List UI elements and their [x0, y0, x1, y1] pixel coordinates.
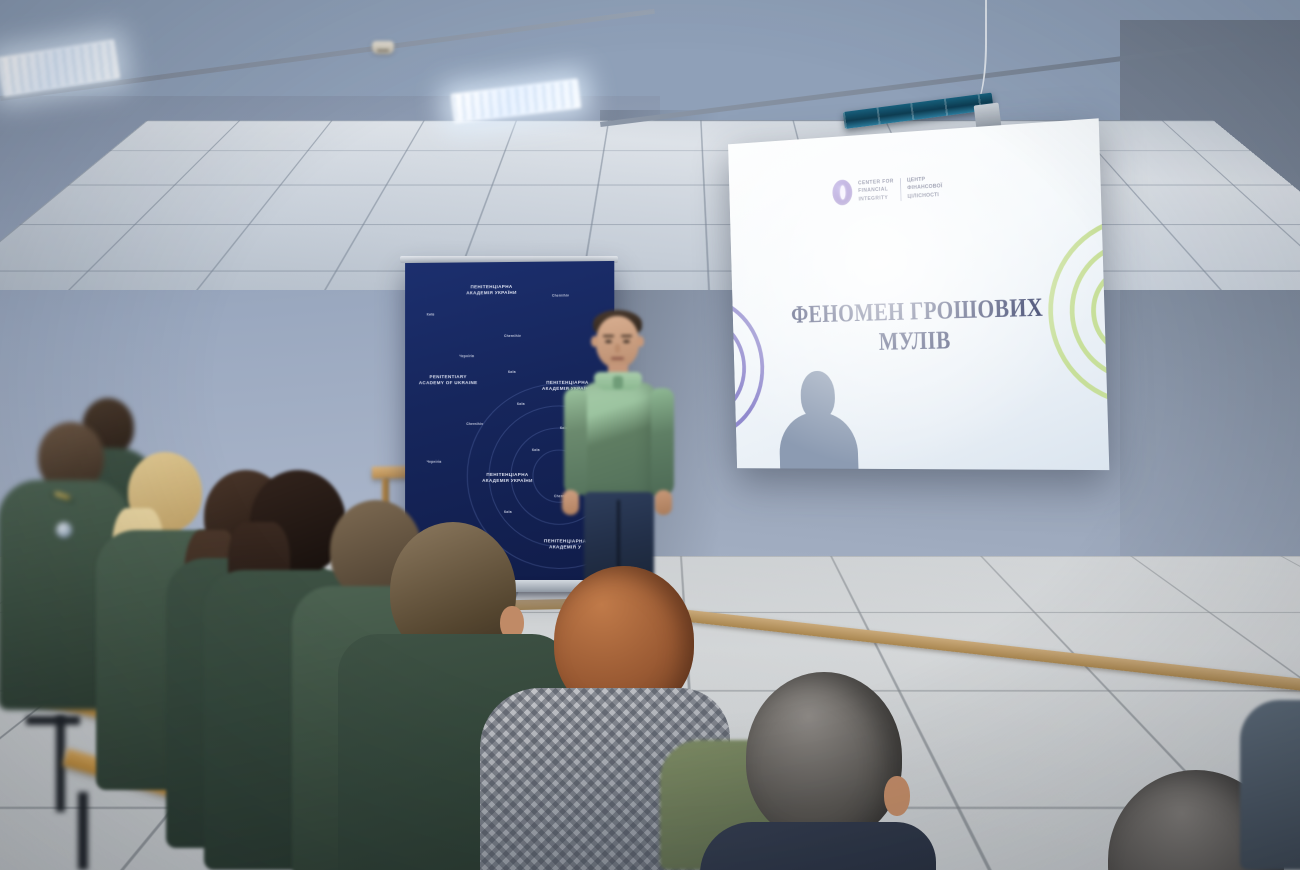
audience-head — [746, 672, 902, 842]
bench-leg — [26, 716, 80, 725]
banner-watermark-text: Київ — [517, 402, 525, 406]
banner-watermark-text: Чернігів — [427, 460, 442, 464]
slide-logo: CENTER FOR FINANCIAL INTEGRITY ЦЕНТР ФІН… — [832, 174, 943, 206]
logo-name-ua: ЦЕНТР ФІНАНСОВОЇ ЦІЛІСНОСТІ — [907, 174, 943, 201]
banner-watermark-text: Київ — [508, 370, 516, 374]
slide-title: ФЕНОМЕН ГРОШОВИХ МУЛІВ — [767, 292, 1071, 359]
banner-watermark-text: Chernihiv — [466, 422, 483, 426]
presenter-hand — [655, 490, 672, 515]
banner-watermark-text: Київ — [427, 313, 435, 317]
presenter — [556, 308, 682, 580]
banner-watermark-text: Київ — [504, 510, 512, 514]
suspended-ceiling — [0, 121, 1300, 290]
presentation-photo-scene: CENTER FOR FINANCIAL INTEGRITY ЦЕНТР ФІН… — [0, 0, 1300, 870]
cfi-logo-mark-icon — [832, 179, 853, 206]
logo-name-en: CENTER FOR FINANCIAL INTEGRITY — [858, 177, 894, 204]
audience-ear — [884, 776, 910, 816]
slide-decor-arcs-left — [728, 273, 785, 459]
banner-watermark-text: PENITENTIARY ACADEMY OF UKRAINE — [419, 374, 478, 386]
uniform-patch — [56, 522, 72, 538]
banner-watermark-text: ПЕНІТЕНЦІАРНА АКАДЕМІЯ УКРАЇНИ — [482, 472, 533, 485]
banner-watermark-text: ПЕНІТЕНЦІАРНА АКАДЕМІЯ УКРАЇНИ — [466, 284, 516, 297]
presenter-mouth — [611, 357, 624, 360]
presenter-sweater — [580, 382, 658, 498]
banner-watermark-text: Chernihiv — [552, 294, 569, 299]
bench-leg — [78, 792, 88, 870]
banner-watermark-text: Chernihiv — [504, 334, 521, 339]
presenter-arm — [651, 388, 674, 496]
person-silhouette-icon — [777, 370, 858, 470]
presenter-collar — [594, 372, 642, 390]
guest-jacket — [1240, 700, 1300, 870]
wall-right — [1120, 20, 1300, 580]
guest-dark-jacket — [700, 822, 936, 870]
logo-divider — [900, 178, 902, 201]
silhouette-body — [779, 412, 859, 470]
slide-surface: CENTER FOR FINANCIAL INTEGRITY ЦЕНТР ФІН… — [728, 118, 1109, 470]
projector-cable — [963, 0, 987, 108]
presenter-nose — [615, 344, 620, 353]
smoke-detector-icon — [372, 41, 394, 54]
presenter-head — [596, 316, 639, 368]
projection-screen: CENTER FOR FINANCIAL INTEGRITY ЦЕНТР ФІН… — [728, 118, 1109, 470]
presenter-ear — [591, 336, 598, 347]
banner-watermark-text: Чернігів — [459, 354, 474, 358]
presenter-arm — [564, 388, 587, 496]
banner-watermark-text: Київ — [532, 448, 540, 452]
presenter-ear — [637, 336, 644, 347]
ceiling-grid — [0, 121, 1300, 290]
presenter-hand — [562, 490, 579, 515]
